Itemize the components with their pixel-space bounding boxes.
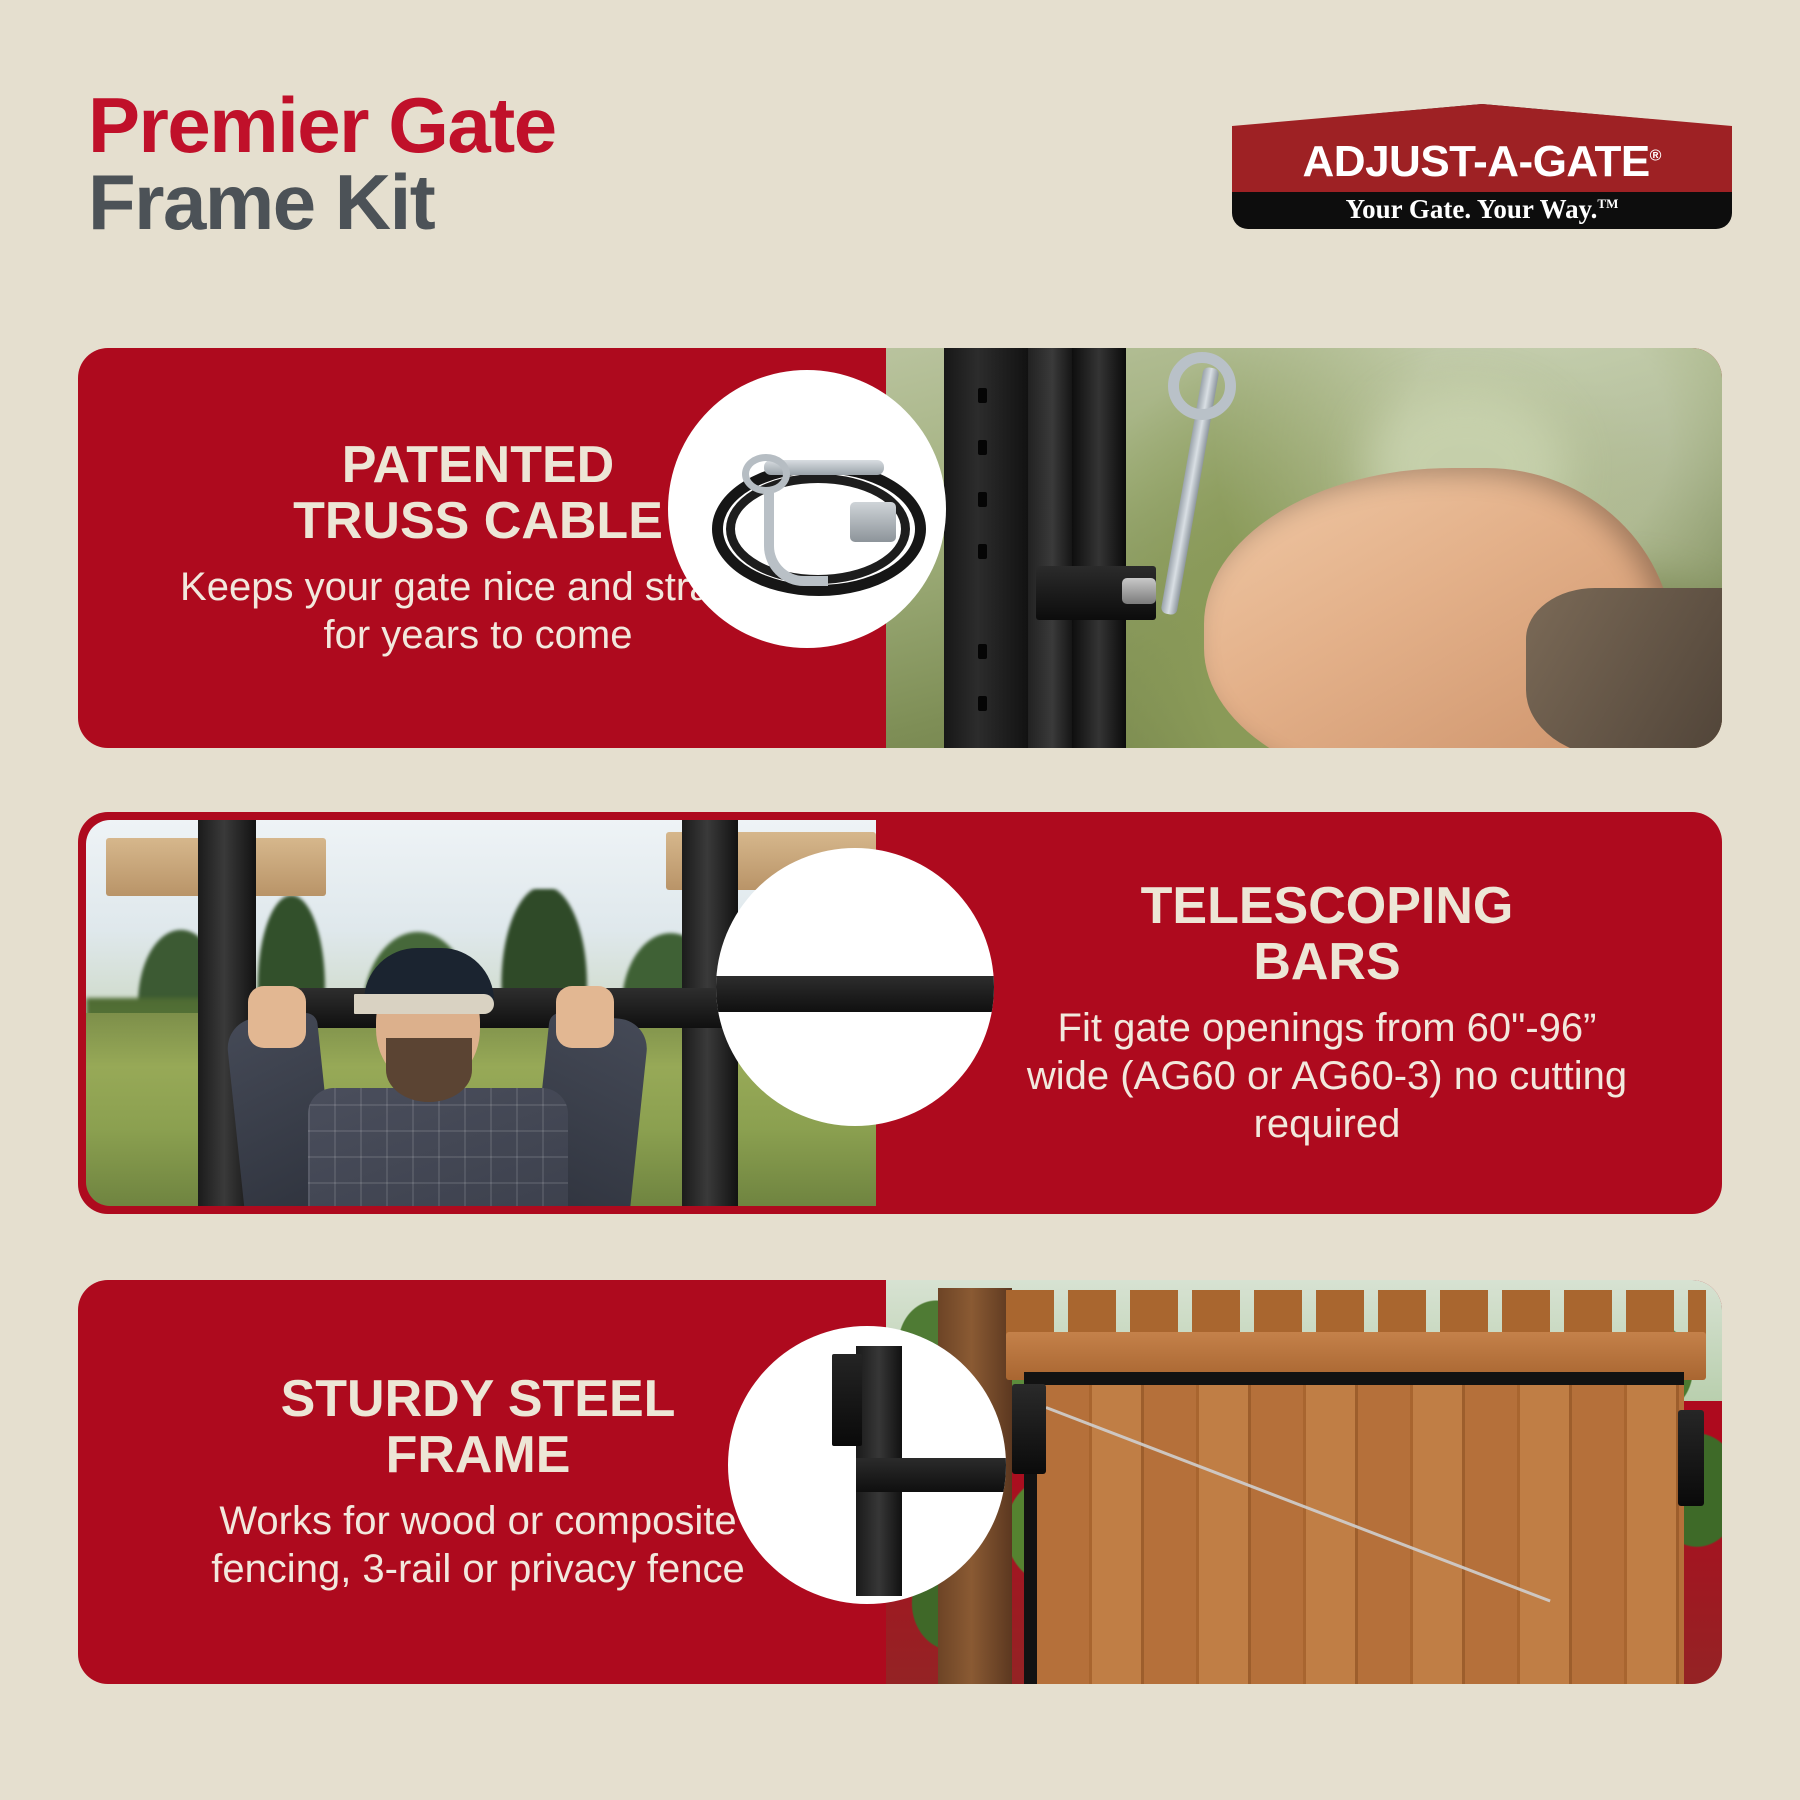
frame-adjustment-hole (978, 440, 987, 455)
feature-photo-steel-frame (886, 1280, 1722, 1684)
feature-heading-line: FRAME (281, 1427, 676, 1483)
logo-tagline: Your Gate. Your Way.TM (1232, 194, 1732, 225)
wood-gate-panel (1024, 1372, 1684, 1684)
product-inset-steel-frame-corner (728, 1326, 1006, 1604)
logo-tagline-text: Your Gate. Your Way. (1346, 194, 1598, 224)
gate-latch (1678, 1410, 1704, 1506)
installer-hand-right (556, 986, 614, 1048)
frame-adjustment-hole (978, 696, 987, 711)
feature-panel-telescoping-bars: TELESCOPING BARS Fit gate openings from … (78, 812, 1722, 1214)
feature-heading-line: TRUSS CABLE (293, 493, 663, 549)
gate-frame-upright-middle (1028, 348, 1072, 748)
cable-eyelet-icon (742, 454, 790, 494)
frame-adjustment-hole (978, 544, 987, 559)
feature-heading-line: BARS (1141, 934, 1514, 990)
frame-adjustment-hole (978, 388, 987, 403)
product-inset-truss-cable-kit (668, 370, 946, 648)
fence-picket-tops (1006, 1290, 1706, 1338)
page-header: Premier Gate Frame Kit ADJUST-A-GATE® Yo… (0, 0, 1800, 300)
installer-sleeve (1526, 588, 1722, 748)
turnbuckle-eye-top (1168, 352, 1236, 420)
cable-clamp-icon (850, 502, 896, 542)
title-line-primary: Premier Gate (88, 88, 556, 163)
trademark-icon: TM (1597, 196, 1618, 211)
installer-shirt (308, 1088, 568, 1206)
feature-text-telescoping-bars: TELESCOPING BARS Fit gate openings from … (932, 812, 1722, 1214)
telescoping-bar-icon (716, 976, 994, 1012)
feature-photo-truss-cable (886, 348, 1722, 748)
product-inset-telescoping-bar (716, 848, 994, 1126)
feature-heading-line: PATENTED (293, 437, 663, 493)
gate-hinge (1012, 1384, 1046, 1474)
steel-frame-crossbar-icon (856, 1458, 1006, 1492)
feature-heading: STURDY STEEL FRAME (281, 1371, 676, 1483)
feature-heading: TELESCOPING BARS (1141, 878, 1514, 990)
feature-heading: PATENTED TRUSS CABLE (293, 437, 663, 549)
frame-adjustment-hole (978, 492, 987, 507)
title-line-secondary: Frame Kit (88, 163, 556, 241)
brand-logo: ADJUST-A-GATE® Your Gate. Your Way.TM (1232, 104, 1732, 229)
feature-panel-sturdy-steel-frame: STURDY STEEL FRAME Works for wood or com… (78, 1280, 1722, 1684)
installer-hand-left (248, 986, 306, 1048)
feature-panel-patented-truss-cable: PATENTED TRUSS CABLE Keeps your gate nic… (78, 348, 1722, 748)
installer-cap-brim (354, 994, 494, 1014)
gate-frame-bolt (1122, 578, 1156, 604)
s-hook-icon (764, 490, 828, 586)
installer-beard (386, 1038, 472, 1102)
page-title: Premier Gate Frame Kit (88, 88, 556, 241)
registered-trademark-icon: ® (1650, 147, 1662, 164)
gate-frame-upright-right (1072, 348, 1126, 748)
feature-body-text: Works for wood or composite fencing, 3-r… (168, 1497, 788, 1593)
feature-body-text: Fit gate openings from 60"-96” wide (AG6… (1017, 1004, 1637, 1148)
steel-frame-bracket-icon (832, 1354, 862, 1446)
logo-brand-text: ADJUST-A-GATE (1303, 137, 1650, 186)
feature-heading-line: STURDY STEEL (281, 1371, 676, 1427)
feature-heading-line: TELESCOPING (1141, 878, 1514, 934)
logo-brand-name: ADJUST-A-GATE® (1232, 137, 1732, 187)
frame-adjustment-hole (978, 644, 987, 659)
